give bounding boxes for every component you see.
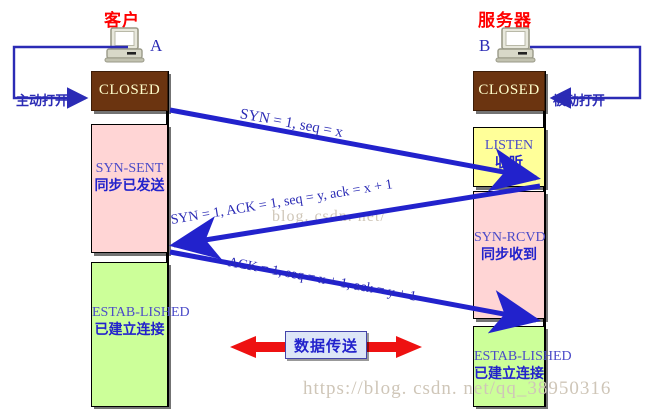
tcp-handshake-diagram: 客户 A 服务器 B	[0, 0, 652, 409]
data-transfer-label: 数据传送	[294, 335, 358, 356]
watermark-bottom: https://blog. csdn. net/qq_38950316	[303, 378, 611, 400]
arrow-syn	[170, 110, 536, 178]
data-transfer-box: 数据传送	[285, 331, 367, 359]
arrow-right-red-icon	[360, 336, 422, 358]
arrow-left-red-icon	[230, 336, 292, 358]
